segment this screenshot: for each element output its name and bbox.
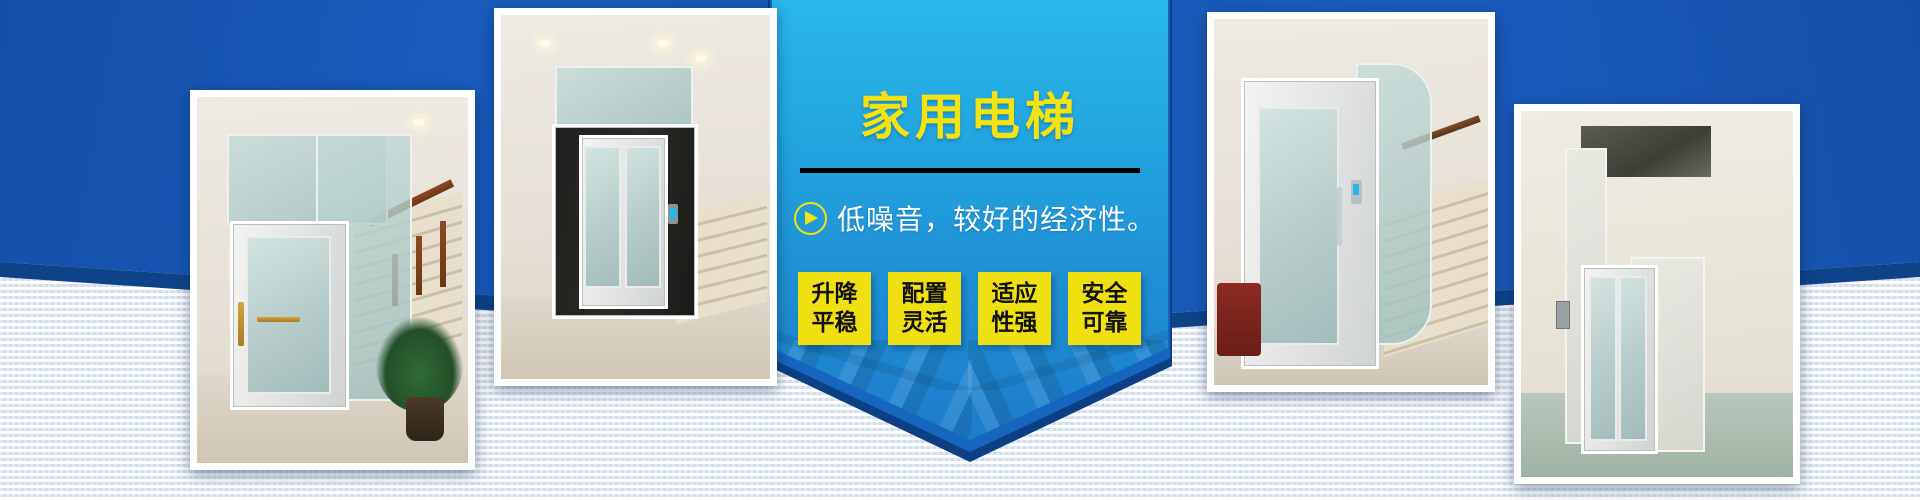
banner-subtitle-row: 低噪音，较好的经济性。 [794, 198, 1156, 238]
feature-badge[interactable]: 适应 性强 [978, 272, 1051, 345]
feature-badge-line2: 性强 [992, 309, 1038, 337]
feature-badge-line2: 可靠 [1082, 309, 1128, 337]
banner-text-block: 家用电梯 低噪音，较好的经济性。 升降 平稳 配置 灵活 适应 性强 安全 可靠 [772, 0, 1168, 440]
feature-badge[interactable]: 升降 平稳 [798, 272, 871, 345]
photo-image-2 [501, 15, 770, 379]
banner-subtitle: 低噪音，较好的经济性。 [837, 198, 1156, 238]
feature-badge[interactable]: 安全 可靠 [1068, 272, 1141, 345]
photo-image-1 [197, 97, 468, 463]
banner-title: 家用电梯 [772, 92, 1168, 142]
feature-badge-line2: 灵活 [902, 309, 948, 337]
circled-play-arrow-icon [794, 202, 827, 235]
home-elevator-banner: 家用电梯 低噪音，较好的经济性。 升降 平稳 配置 灵活 适应 性强 安全 可靠 [0, 0, 1920, 500]
feature-badge[interactable]: 配置 灵活 [888, 272, 961, 345]
photo-card-3 [1207, 12, 1495, 392]
feature-badge-line2: 平稳 [812, 309, 858, 337]
feature-badge-list: 升降 平稳 配置 灵活 适应 性强 安全 可靠 [798, 272, 1141, 345]
photo-card-4 [1514, 104, 1800, 484]
photo-image-3 [1214, 19, 1488, 385]
feature-badge-line1: 升降 [812, 280, 858, 308]
photo-card-2 [494, 8, 777, 386]
feature-badge-line1: 安全 [1082, 280, 1128, 308]
feature-badge-line1: 配置 [902, 280, 948, 308]
photo-card-1 [190, 90, 475, 470]
photo-image-4 [1521, 111, 1793, 477]
title-divider [800, 168, 1140, 173]
feature-badge-line1: 适应 [992, 280, 1038, 308]
